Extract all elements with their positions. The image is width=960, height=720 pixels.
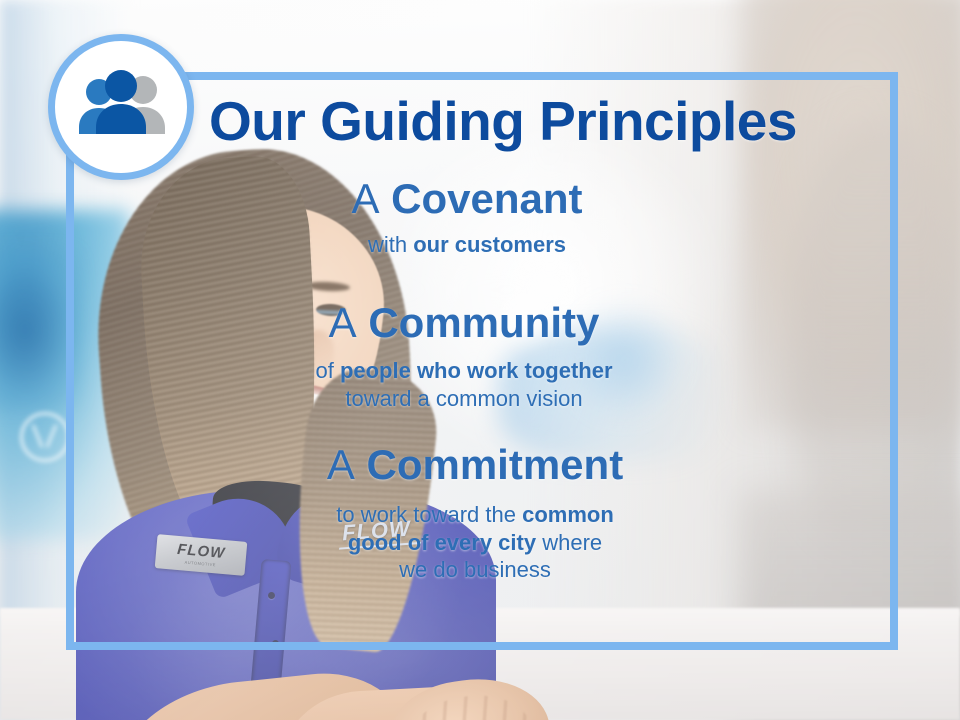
page-title: Our Guiding Principles: [66, 94, 898, 149]
subtext-span: we do business: [399, 557, 551, 582]
principle-covenant: A Covenant with our customers: [66, 178, 898, 259]
subtext-line: we do business: [66, 556, 884, 584]
subtext-line: of people who work together: [66, 357, 862, 385]
principle-subtext: to work toward the common good of every …: [66, 501, 884, 584]
principle-word: Commitment: [367, 441, 624, 488]
subtext-span-bold: our customers: [413, 232, 566, 257]
subtext-line: to work toward the common: [66, 501, 884, 529]
text-content: Our Guiding Principles A Covenant with o…: [66, 72, 898, 650]
principle-headline: A Covenant: [66, 178, 868, 221]
principle-article: A: [329, 299, 357, 346]
subtext-span: with: [368, 232, 413, 257]
subtext-line: toward a common vision: [66, 385, 862, 413]
subtext-span: to work toward the: [336, 502, 522, 527]
principle-article: A: [327, 441, 355, 488]
principle-subtext: of people who work together toward a com…: [66, 357, 862, 412]
page-title-text: Our Guiding Principles: [167, 94, 797, 149]
principle-subtext: with our customers: [66, 231, 868, 259]
subtext-line: with our customers: [66, 231, 868, 259]
subtext-line: good of every city where: [66, 529, 884, 557]
principle-commitment: A Commitment to work toward the common g…: [66, 444, 898, 584]
principle-headline: A Commitment: [66, 444, 884, 487]
subtext-span-bold: good of every city: [348, 530, 536, 555]
subtext-span: toward a common vision: [345, 386, 582, 411]
principle-community: A Community of people who work together …: [66, 302, 898, 412]
subtext-span: of: [315, 358, 339, 383]
principle-headline: A Community: [66, 302, 862, 345]
principle-article: A: [351, 175, 379, 222]
promotional-graphic: FLOW AUTOMOTIVE FLOW: [0, 0, 960, 720]
subtext-span-bold: common: [522, 502, 614, 527]
principle-word: Community: [368, 299, 599, 346]
subtext-span-bold: people who work together: [340, 358, 613, 383]
principle-word: Covenant: [391, 175, 582, 222]
subtext-span: where: [536, 530, 602, 555]
